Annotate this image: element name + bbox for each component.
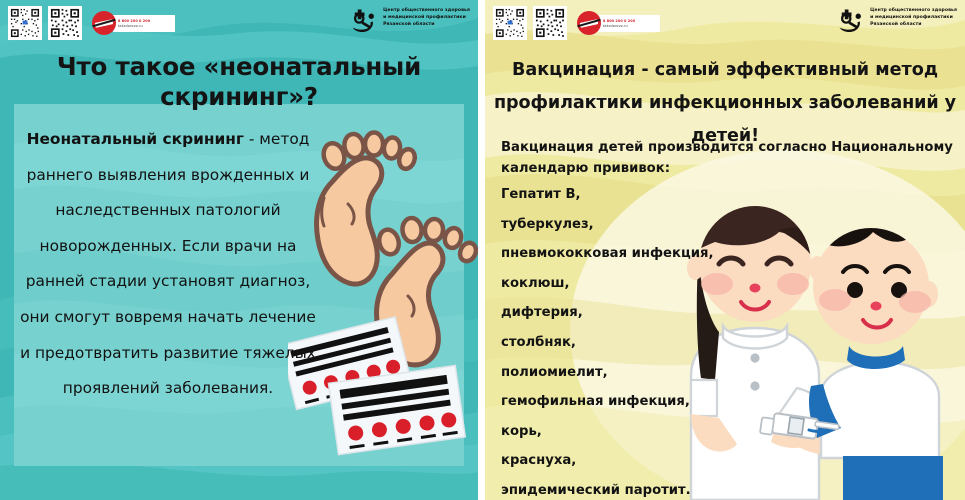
health-center-logo-icon <box>835 5 865 35</box>
org-line-2: и медицинской профилактики <box>870 15 957 21</box>
badge-phone: 8 800 200 0 200 <box>603 19 657 23</box>
stop-badge-label: 8 800 200 0 200 takzdorovo.ru <box>113 15 175 32</box>
list-item: столбняк, <box>501 328 801 358</box>
list-item: корь, <box>501 417 801 447</box>
qr-code-icon-1[interactable] <box>493 6 527 40</box>
qr-code-icon-1[interactable] <box>8 6 42 40</box>
list-item: гемофильная инфекция, <box>501 387 801 417</box>
org-line-1: Центр общественного здоровья <box>383 8 470 14</box>
vaccine-list: Гепатит В, туберкулез, пневмококковая ин… <box>501 180 801 500</box>
poster-pair: 8 800 200 0 200 takzdorovo.ru Центр обще… <box>0 0 965 500</box>
left-panel-body: Неонатальный скрининг - метод раннего вы… <box>18 122 318 407</box>
list-item: дифтерия, <box>501 298 801 328</box>
qr-code-icon-2[interactable] <box>48 6 82 40</box>
health-center-logo-icon <box>348 5 378 35</box>
left-stop-smoking-badge[interactable]: 8 800 200 0 200 takzdorovo.ru <box>92 11 175 35</box>
right-stop-smoking-badge[interactable]: 8 800 200 0 200 takzdorovo.ru <box>577 11 660 35</box>
org-line-2: и медицинской профилактики <box>383 15 470 21</box>
right-subtitle-line-1: Вакцинация детей производится согласно Н… <box>501 137 953 158</box>
right-subtitle-line-2: календарю прививок: <box>501 158 953 179</box>
list-item: коклюш, <box>501 269 801 299</box>
org-line-1: Центр общественного здоровья <box>870 8 957 14</box>
badge-phone: 8 800 200 0 200 <box>118 19 172 23</box>
left-qr-codes-group: 8 800 200 0 200 takzdorovo.ru <box>8 6 175 40</box>
panel-divider <box>478 0 485 500</box>
right-organization-logo: Центр общественного здоровья и медицинск… <box>835 5 957 35</box>
right-header-band: 8 800 200 0 200 takzdorovo.ru Центр обще… <box>485 0 965 46</box>
org-line-3: Рязанской области <box>870 22 957 28</box>
qr-code-icon-2[interactable] <box>533 6 567 40</box>
org-line-3: Рязанской области <box>383 22 470 28</box>
right-panel-subtitle: Вакцинация детей производится согласно Н… <box>501 137 953 179</box>
stop-badge-label: 8 800 200 0 200 takzdorovo.ru <box>598 15 660 32</box>
no-smoking-icon <box>577 11 601 35</box>
panel-neonatal-screening: 8 800 200 0 200 takzdorovo.ru Центр обще… <box>0 0 478 500</box>
left-organization-logo: Центр общественного здоровья и медицинск… <box>348 5 470 35</box>
left-organization-text: Центр общественного здоровья и медицинск… <box>383 5 470 28</box>
list-item: полиомиелит, <box>501 358 801 388</box>
list-item: Гепатит В, <box>501 180 801 210</box>
no-smoking-icon <box>92 11 116 35</box>
list-item: пневмококковая инфекция, <box>501 239 801 269</box>
right-qr-codes-group: 8 800 200 0 200 takzdorovo.ru <box>493 6 660 40</box>
left-header-band: 8 800 200 0 200 takzdorovo.ru Центр обще… <box>0 0 478 46</box>
list-item: краснуха, <box>501 446 801 476</box>
panel-vaccination: 8 800 200 0 200 takzdorovo.ru Центр обще… <box>485 0 965 500</box>
right-organization-text: Центр общественного здоровья и медицинск… <box>870 5 957 28</box>
right-title-line-1: Вакцинация - самый эффективный метод <box>485 54 965 87</box>
left-body-lead: Неонатальный скрининг <box>27 130 244 148</box>
list-item: эпидемический паротит. <box>501 476 801 500</box>
list-item: туберкулез, <box>501 210 801 240</box>
left-panel-title: Что такое «неонатальный скрининг»? <box>0 52 478 112</box>
left-body-rest: - метод раннего выявления врожденных и н… <box>20 130 316 397</box>
badge-site: takzdorovo.ru <box>118 24 172 28</box>
badge-site: takzdorovo.ru <box>603 24 657 28</box>
